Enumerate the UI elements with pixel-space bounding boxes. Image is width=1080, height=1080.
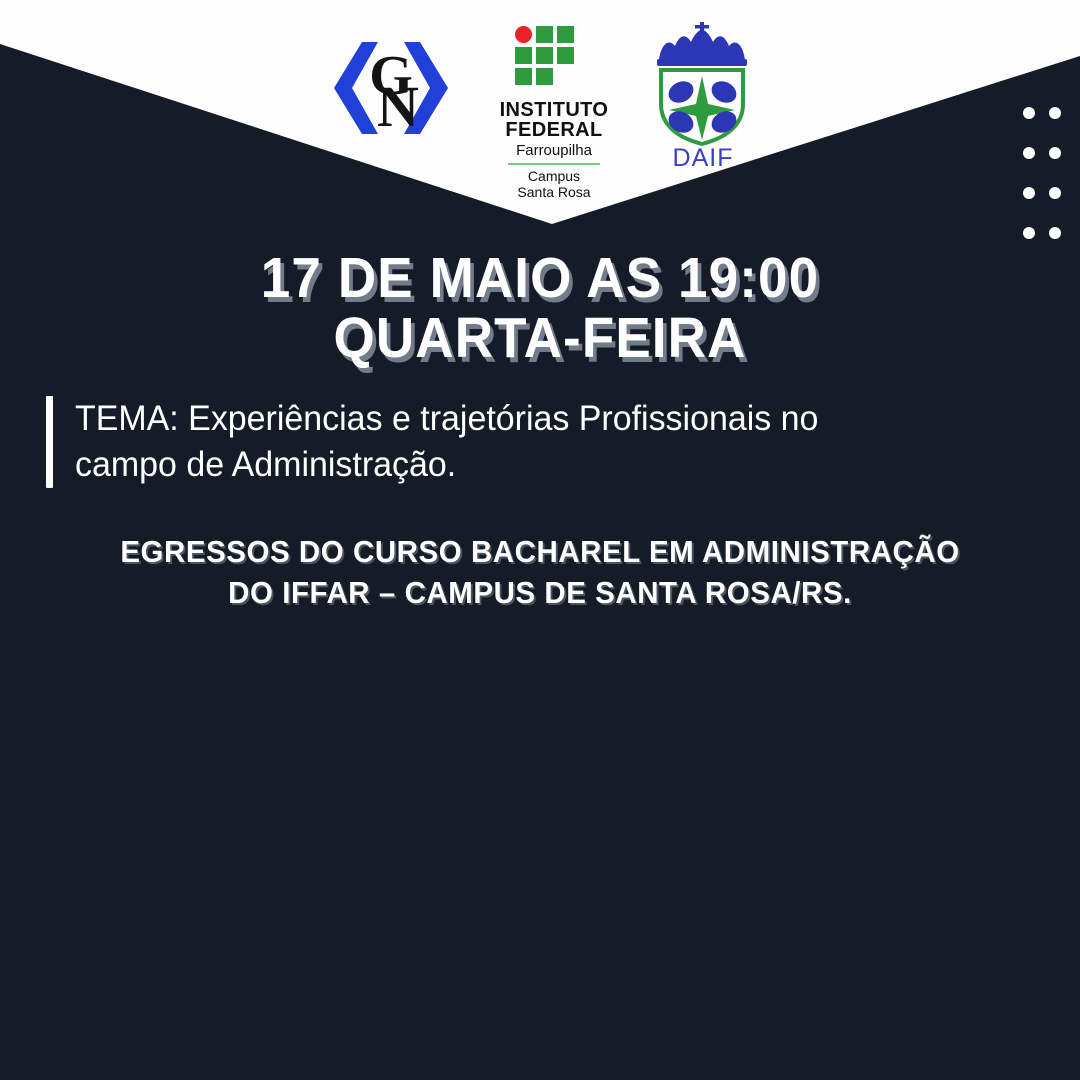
- event-title: 17 DE MAIO AS 19:00 QUARTA-FEIRA: [0, 248, 1080, 369]
- if-line-farroupilha: Farroupilha: [516, 142, 592, 159]
- speaker-grid: Paulo Eduardo Seimetz Chefe de Gabinete …: [0, 650, 1080, 1080]
- subtitle-block: EGRESSOS DO CURSO BACHAREL EM ADMINISTRA…: [27, 532, 1053, 614]
- event-title-line-1: 17 DE MAIO AS 19:00: [38, 248, 1042, 308]
- if-divider: [508, 163, 600, 165]
- instituto-federal-logo: INSTITUTO FEDERAL Farroupilha Campus San…: [488, 18, 620, 200]
- if-line-instituto: INSTITUTO: [500, 100, 609, 120]
- event-title-line-2: QUARTA-FEIRA: [38, 308, 1042, 368]
- gn-logo: G N: [316, 18, 466, 158]
- decor-dot: [1023, 187, 1035, 199]
- daif-label: DAIF: [673, 144, 734, 173]
- instituto-federal-mark: [515, 26, 593, 96]
- decor-dot-grid: [1016, 93, 1068, 253]
- if-line-santa-rosa: Santa Rosa: [517, 184, 590, 200]
- decor-dot: [1049, 107, 1061, 119]
- decor-dot: [1049, 147, 1061, 159]
- if-line-federal: FEDERAL: [505, 120, 602, 141]
- tema-line-1: TEMA: Experiências e trajetórias Profiss…: [75, 396, 1006, 442]
- tema-accent-bar: [46, 396, 53, 488]
- decor-dot: [1049, 227, 1061, 239]
- subtitle-line-2: DO IFFAR – CAMPUS DE SANTA ROSA/RS.: [27, 573, 1053, 614]
- daif-logo: DAIF: [642, 18, 764, 173]
- decor-dot: [1049, 187, 1061, 199]
- decor-dot: [1023, 147, 1035, 159]
- tema-line-2: campo de Administração.: [75, 442, 1006, 488]
- tema-text: TEMA: Experiências e trajetórias Profiss…: [75, 396, 1006, 488]
- subtitle-line-1: EGRESSOS DO CURSO BACHAREL EM ADMINISTRA…: [27, 532, 1053, 573]
- logo-row: G N INSTITUTO FEDERAL Farroupilha Campus…: [0, 18, 1080, 188]
- tema-block: TEMA: Experiências e trajetórias Profiss…: [46, 396, 1036, 488]
- svg-text:N: N: [377, 74, 419, 139]
- if-line-campus: Campus: [528, 168, 580, 184]
- event-poster: G N INSTITUTO FEDERAL Farroupilha Campus…: [0, 0, 1080, 1080]
- decor-dot: [1023, 227, 1035, 239]
- decor-dot: [1023, 107, 1035, 119]
